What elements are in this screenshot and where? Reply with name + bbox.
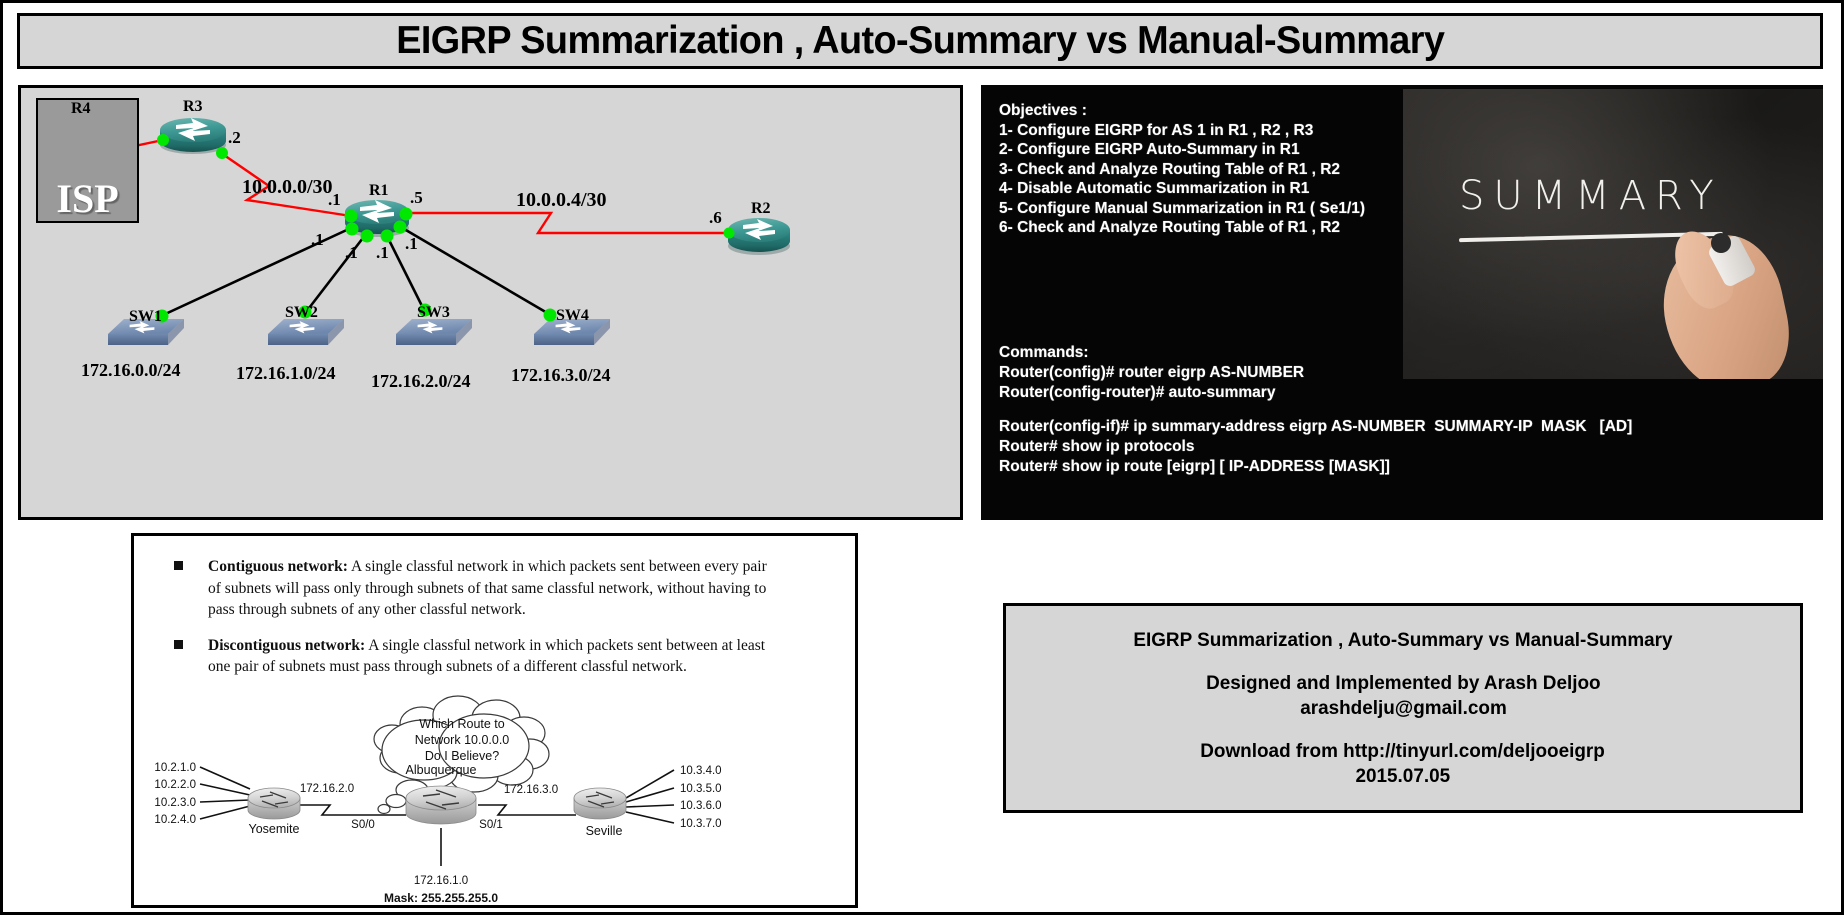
router-label-r4: R4	[71, 100, 91, 118]
interface-status-dots	[105, 130, 735, 323]
bullet-square-icon	[174, 640, 183, 649]
objective-item-5: 5- Configure Manual Summarization in R1 …	[999, 199, 1379, 219]
router-label-r1: R1	[369, 182, 389, 200]
small-net-right-4: 10.3.7.0	[680, 818, 722, 830]
iface-label-r1-sw2: .1	[345, 243, 358, 263]
bullet-square-icon	[174, 561, 183, 570]
iface-label-r1-sw1: .1	[311, 230, 324, 250]
commands-list: Commands: Router(config)# router eigrp A…	[999, 343, 1789, 477]
router-label-r3: R3	[183, 98, 203, 116]
objective-item-6: 6- Check and Analyze Routing Table of R1…	[999, 218, 1379, 238]
page-title-bar: EIGRP Summarization , Auto-Summary vs Ma…	[17, 13, 1823, 69]
objectives-heading: Objectives :	[999, 101, 1379, 121]
definition-contiguous: Contiguous network: A single classful ne…	[174, 556, 774, 621]
switch-sw2	[268, 319, 344, 345]
subnet-label-sw4: 172.16.3.0/24	[511, 365, 611, 386]
commands-spacer	[999, 403, 1789, 417]
small-link-label-left: 172.16.2.0	[300, 783, 354, 795]
command-line-2: Router(config-router)# auto-summary	[999, 383, 1789, 403]
small-router-albuquerque	[406, 786, 476, 824]
iface-label-r1-sw3: .1	[376, 243, 389, 263]
network-topology-panel: ISP R4 R3 R1 R2 .2 .1 .5 .6 .1 .1 .1 .1 …	[18, 85, 963, 520]
poster-root: EIGRP Summarization , Auto-Summary vs Ma…	[0, 0, 1844, 915]
bubble-line-2: Network 10.0.0.0	[415, 733, 510, 747]
small-router-label-yosemite: Yosemite	[249, 822, 300, 836]
small-net-left-1: 10.2.1.0	[154, 762, 196, 774]
small-router-label-seville: Seville	[586, 824, 623, 838]
small-net-right-3: 10.3.6.0	[680, 800, 722, 812]
credits-download-link[interactable]: Download from http://tinyurl.com/deljooe…	[1201, 739, 1606, 764]
switch-sw3	[396, 319, 472, 345]
objective-item-3: 3- Check and Analyze Routing Table of R1…	[999, 160, 1379, 180]
small-net-left-4: 10.2.4.0	[154, 814, 196, 826]
objective-item-1: 1- Configure EIGRP for AS 1 in R1 , R2 ,…	[999, 121, 1379, 141]
credits-title: EIGRP Summarization , Auto-Summary vs Ma…	[1133, 628, 1672, 653]
marker-tip-icon	[1711, 233, 1731, 253]
objectives-list: Objectives : 1- Configure EIGRP for AS 1…	[999, 101, 1379, 238]
command-line-5: Router# show ip route [eigrp] [ IP-ADDRE…	[999, 457, 1789, 477]
small-iface-s00: S0/0	[351, 819, 375, 831]
router-label-r2: R2	[751, 200, 771, 218]
small-net-left-2: 10.2.2.0	[154, 779, 196, 791]
isp-label: ISP	[38, 179, 137, 219]
definitions-box: Contiguous network: A single classful ne…	[131, 533, 858, 908]
router-r3	[160, 118, 226, 154]
commands-heading: Commands:	[999, 343, 1789, 363]
objectives-panel: SUMMARY Objectives : 1- Configure EIGRP …	[981, 85, 1823, 520]
summary-chalkboard-image: SUMMARY	[1403, 89, 1823, 379]
chalkboard-summary-text: SUMMARY	[1459, 173, 1723, 219]
credits-box: EIGRP Summarization , Auto-Summary vs Ma…	[1003, 603, 1803, 813]
link-label-10-0-0-0-30: 10.0.0.0/30	[242, 176, 333, 199]
credits-email: arashdelju@gmail.com	[1300, 696, 1507, 721]
link-label-10-0-0-4-30: 10.0.0.4/30	[516, 189, 607, 212]
router-r2	[728, 218, 790, 255]
definition-term-discontiguous: Discontiguous network:	[208, 637, 365, 654]
ethernet-links	[161, 226, 549, 316]
iface-label-r1-to-r2: .5	[410, 188, 423, 208]
iface-label-r3-to-r1: .2	[228, 128, 241, 148]
small-iface-s01: S0/1	[479, 819, 503, 831]
small-router-seville	[574, 788, 626, 819]
command-line-1: Router(config)# router eigrp AS-NUMBER	[999, 363, 1789, 383]
definition-discontiguous: Discontiguous network: A single classful…	[174, 635, 774, 678]
switch-label-sw1: SW1	[129, 308, 162, 326]
subnet-label-sw2: 172.16.1.0/24	[236, 363, 336, 384]
command-line-4: Router# show ip protocols	[999, 437, 1789, 457]
topology-canvas	[21, 88, 960, 517]
small-router-yosemite	[248, 788, 300, 819]
switch-label-sw4: SW4	[556, 307, 589, 325]
discontiguous-example-diagram: Which Route to Network 10.0.0.0 Do I Bel…	[134, 688, 855, 906]
subnet-label-sw1: 172.16.0.0/24	[81, 360, 181, 381]
subnet-label-sw3: 172.16.2.0/24	[371, 371, 471, 392]
bubble-line-1: Which Route to	[419, 717, 505, 731]
credits-author: Designed and Implemented by Arash Deljoo	[1206, 671, 1601, 696]
page-title: EIGRP Summarization , Auto-Summary vs Ma…	[396, 19, 1444, 63]
credits-date: 2015.07.05	[1356, 764, 1451, 789]
thought-bubble-text: Which Route to Network 10.0.0.0 Do I Bel…	[415, 717, 510, 763]
objective-item-4: 4- Disable Automatic Summarization in R1	[999, 179, 1379, 199]
definition-term-contiguous: Contiguous network:	[208, 558, 348, 575]
small-diagram-mask-label: Mask: 255.255.255.0	[384, 891, 498, 905]
iface-label-r1-sw4: .1	[405, 234, 418, 254]
small-net-right-1: 10.3.4.0	[680, 765, 722, 777]
small-router-label-albuquerque: Albuquerque	[406, 763, 477, 777]
small-link-label-down: 172.16.1.0	[414, 875, 468, 887]
small-link-label-right: 172.16.3.0	[504, 784, 558, 796]
objective-item-2: 2- Configure EIGRP Auto-Summary in R1	[999, 140, 1379, 160]
switch-label-sw2: SW2	[285, 304, 318, 322]
bubble-line-3: Do I Believe?	[425, 749, 499, 763]
switch-label-sw3: SW3	[417, 304, 450, 322]
iface-label-r2-to-r1: .6	[709, 208, 722, 228]
small-net-left-3: 10.2.3.0	[154, 797, 196, 809]
small-net-right-2: 10.3.5.0	[680, 783, 722, 795]
command-line-3: Router(config-if)# ip summary-address ei…	[999, 417, 1789, 437]
